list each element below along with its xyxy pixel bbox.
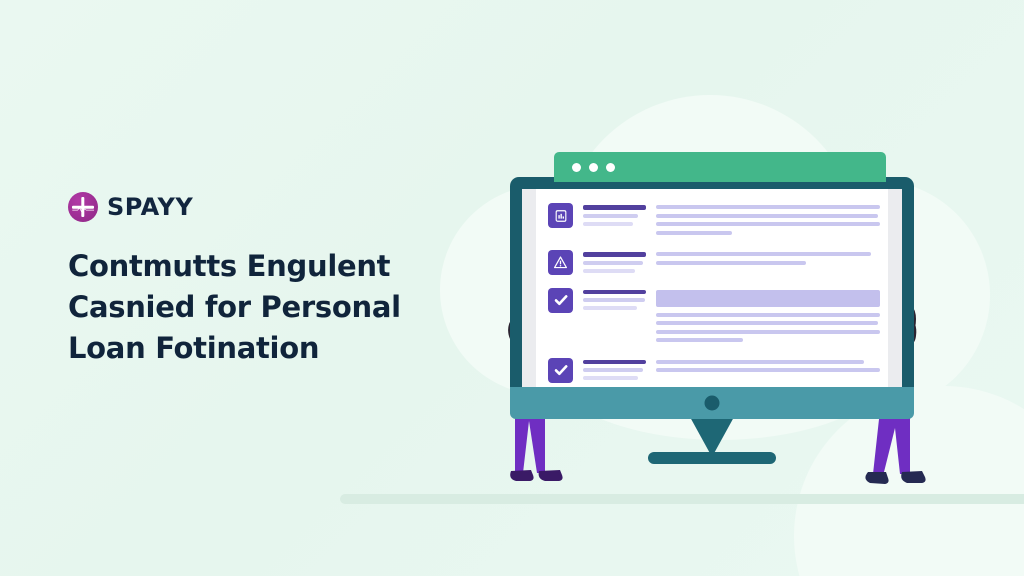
medical-cross-pulse-icon bbox=[68, 192, 98, 222]
row-label-line bbox=[583, 261, 643, 265]
illustration-canvas: SPAYY Contmutts Engulent Casnied for Per… bbox=[0, 0, 1024, 576]
pulse-line-icon bbox=[72, 205, 95, 214]
text-line bbox=[656, 214, 878, 218]
text-line bbox=[656, 252, 871, 256]
row-label-line bbox=[583, 222, 633, 226]
row-label-line bbox=[583, 298, 645, 302]
row-body-text bbox=[656, 358, 880, 385]
monitor-base-bar bbox=[510, 387, 914, 419]
brand-name: SPAYY bbox=[107, 193, 193, 221]
row-label-group bbox=[583, 358, 646, 385]
monitor-bezel bbox=[510, 177, 914, 401]
monitor-stand-foot bbox=[648, 452, 776, 464]
brand-logo: SPAYY bbox=[68, 192, 428, 222]
headline-line-1: Contmutts Engulent bbox=[68, 246, 428, 287]
text-line bbox=[656, 360, 864, 364]
text-line bbox=[656, 231, 732, 235]
hero-copy: SPAYY Contmutts Engulent Casnied for Per… bbox=[68, 192, 428, 369]
text-line bbox=[656, 330, 880, 334]
row-label-group bbox=[583, 288, 646, 347]
row-label-title bbox=[583, 252, 646, 257]
row-label-title bbox=[583, 360, 646, 365]
headline-line-2: Casnied for Personal bbox=[68, 287, 428, 328]
checklist-rows bbox=[548, 203, 880, 401]
row-label-line bbox=[583, 376, 638, 380]
window-dot-icon[interactable] bbox=[572, 163, 581, 172]
camera-dot-icon bbox=[705, 396, 720, 411]
row-label-title bbox=[583, 290, 646, 295]
row-body-text bbox=[656, 250, 880, 277]
page-title: Contmutts Engulent Casnied for Personal … bbox=[68, 246, 428, 369]
screen-edge-shade bbox=[888, 189, 902, 401]
text-line bbox=[656, 205, 880, 209]
text-line bbox=[656, 313, 880, 317]
browser-title-bar bbox=[554, 152, 886, 182]
row-label-group bbox=[583, 203, 646, 239]
row-body-text bbox=[656, 288, 880, 347]
text-line bbox=[656, 368, 880, 372]
highlighted-text-block bbox=[656, 290, 880, 307]
row-label-group bbox=[583, 250, 646, 277]
window-dot-icon[interactable] bbox=[589, 163, 598, 172]
row-label-title bbox=[583, 205, 646, 210]
headline-line-3: Loan Fotination bbox=[68, 328, 428, 369]
checkmark-icon[interactable] bbox=[548, 358, 573, 383]
window-dot-icon[interactable] bbox=[606, 163, 615, 172]
desktop-monitor bbox=[510, 152, 914, 418]
row-label-line bbox=[583, 368, 643, 372]
monitor-screen bbox=[522, 189, 902, 401]
checklist-row[interactable] bbox=[548, 250, 880, 277]
warning-triangle-icon[interactable] bbox=[548, 250, 573, 275]
text-line bbox=[656, 321, 878, 325]
checklist-row[interactable] bbox=[548, 358, 880, 385]
screen-edge-shade bbox=[522, 189, 536, 401]
row-label-line bbox=[583, 269, 635, 273]
checklist-row[interactable] bbox=[548, 288, 880, 347]
text-line bbox=[656, 338, 743, 342]
row-label-line bbox=[583, 214, 638, 218]
row-body-text bbox=[656, 203, 880, 239]
row-label-line bbox=[583, 306, 637, 310]
monitor-stand bbox=[690, 417, 734, 457]
text-line bbox=[656, 222, 880, 226]
bank-document-icon[interactable] bbox=[548, 203, 573, 228]
text-line bbox=[656, 261, 806, 265]
checkmark-icon[interactable] bbox=[548, 288, 573, 313]
checklist-row[interactable] bbox=[548, 203, 880, 239]
